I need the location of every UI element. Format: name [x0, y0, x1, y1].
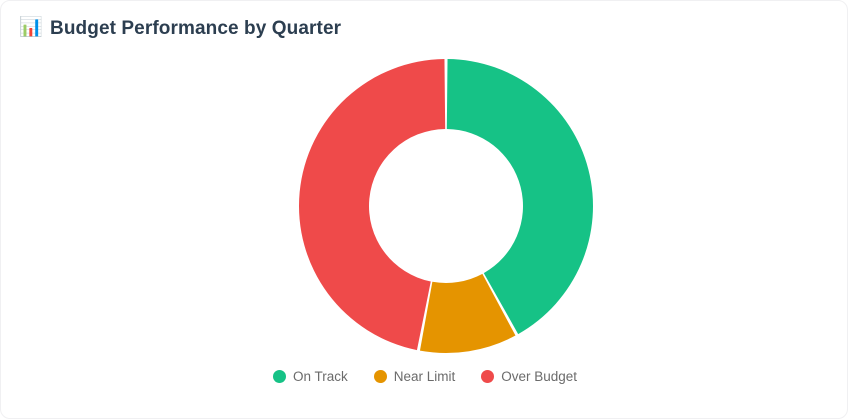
donut-chart-svg: On Track: 42Near Limit: 11Over Budget: 4…	[1, 1, 848, 419]
donut-chart-plot-area: On Track: 42Near Limit: 11Over Budget: 4…	[1, 1, 848, 419]
legend-item[interactable]: Near Limit	[374, 369, 456, 384]
donut-slice-group: On Track: 42Near Limit: 11Over Budget: 4…	[299, 59, 593, 353]
legend-item[interactable]: Over Budget	[481, 369, 577, 384]
legend-item-label: Near Limit	[394, 369, 456, 384]
legend-swatch-icon	[481, 370, 494, 383]
chart-legend: On TrackNear LimitOver Budget	[1, 369, 848, 384]
legend-item-label: Over Budget	[501, 369, 577, 384]
chart-card: 📊 Budget Performance by Quarter On Track…	[0, 0, 848, 419]
legend-swatch-icon	[374, 370, 387, 383]
legend-item-label: On Track	[293, 369, 348, 384]
legend-swatch-icon	[273, 370, 286, 383]
donut-slice[interactable]: Over Budget: 47	[299, 59, 445, 350]
legend-item[interactable]: On Track	[273, 369, 348, 384]
